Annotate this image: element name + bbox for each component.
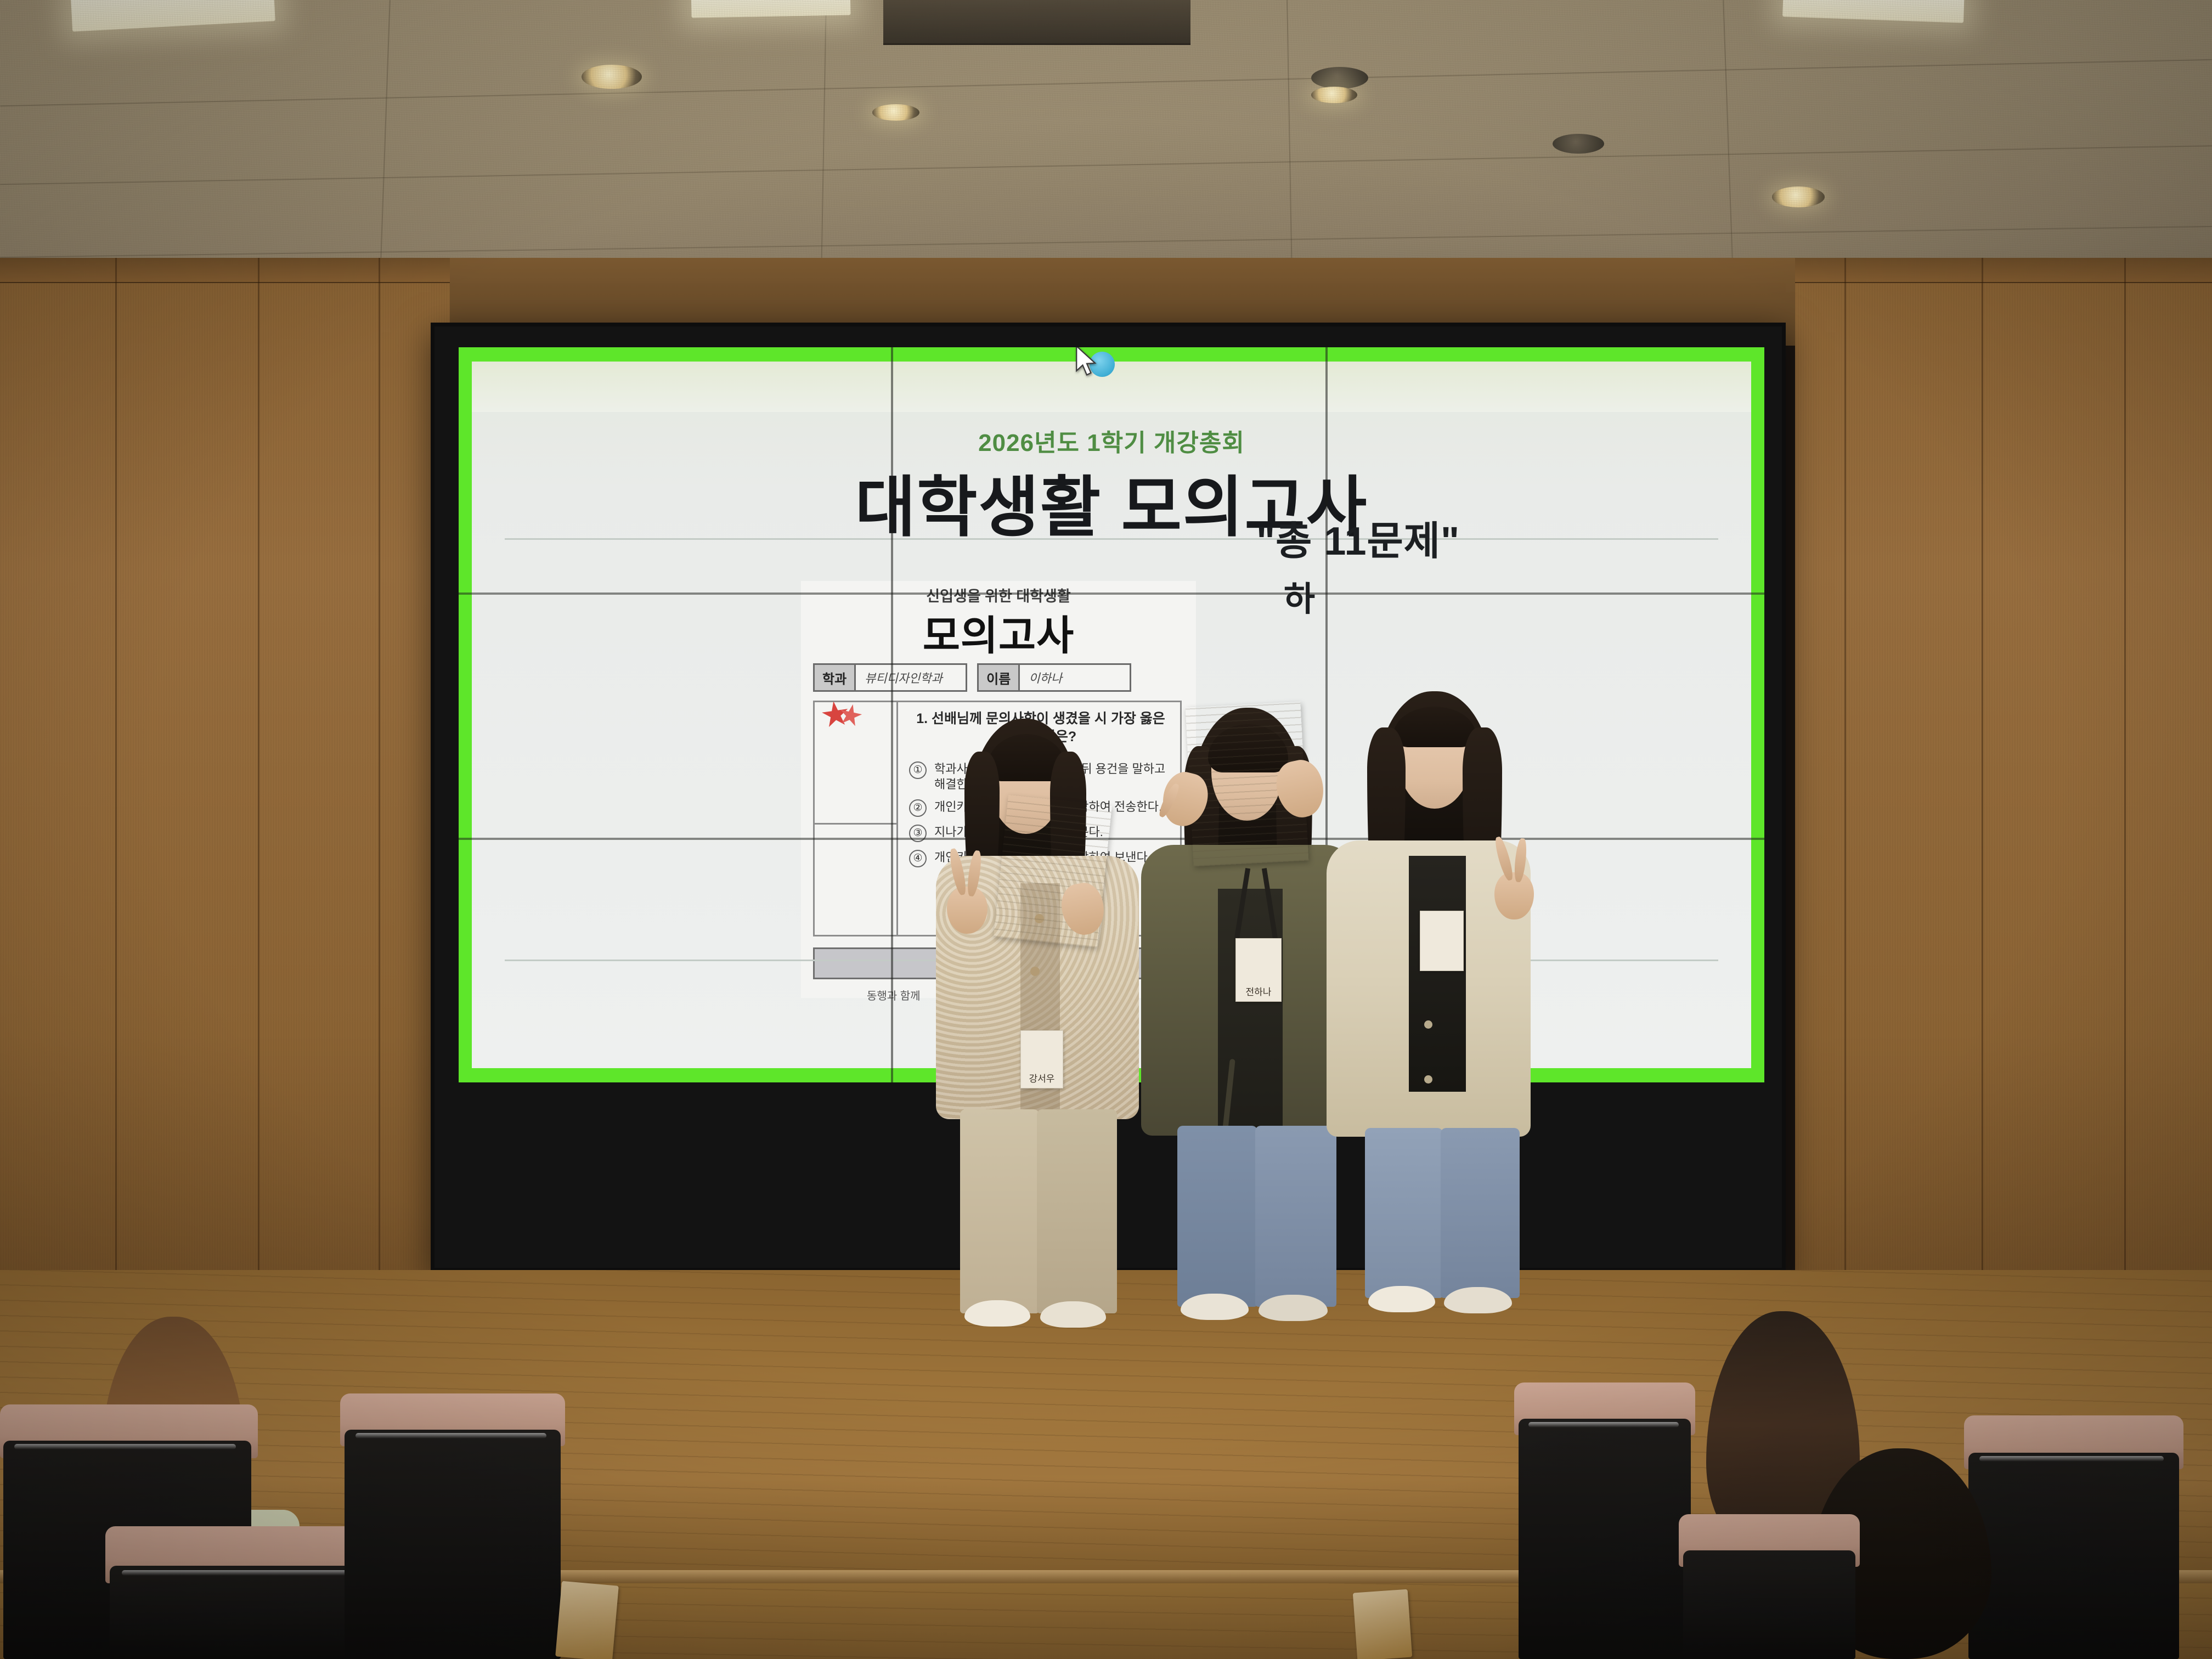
field-name-value: 이하나 [1020, 665, 1130, 690]
leg [1441, 1128, 1520, 1298]
wall-cornice [0, 258, 450, 283]
shoe [1040, 1301, 1106, 1328]
jacket-button [1030, 967, 1040, 976]
audience-seat [340, 1393, 565, 1659]
name-tag [1420, 911, 1464, 971]
question-count-label: "총 11문제" [1256, 509, 1460, 566]
ceiling-downlight [872, 104, 919, 121]
option-number: ② [909, 799, 927, 817]
video-wall-seam [459, 592, 1764, 595]
ceiling-downlight [1553, 134, 1604, 154]
audience-seat [1514, 1383, 1695, 1659]
shoe [1368, 1286, 1435, 1312]
ceiling-soffit-box [883, 0, 1190, 45]
hand-v-sign [1494, 872, 1534, 919]
document-title: 모의고사 [801, 603, 1196, 662]
wall-left [0, 258, 450, 1366]
mouse-cursor-icon [1074, 347, 1099, 378]
seat-back [110, 1566, 374, 1659]
field-department-value: 뷰티디자인학과 [856, 665, 966, 690]
field-department-label: 학과 [815, 665, 856, 690]
seat-highlight [1528, 1422, 1679, 1427]
ceiling-panel-light [691, 0, 851, 18]
slide-title: 대학생활 모의고사 [472, 454, 1751, 549]
option-number: ④ [909, 850, 927, 867]
field-department: 학과 뷰티디자인학과 [813, 663, 967, 692]
document-fields: 학과 뷰티디자인학과 이름 이하나 [813, 663, 1131, 692]
seat-highlight [14, 1444, 236, 1449]
shoe [1444, 1287, 1512, 1313]
leg [1177, 1126, 1257, 1307]
inner-shirt [1409, 856, 1466, 1092]
photo-scene: 2026년도 1학기 개강총회 대학생활 모의고사 신입생을 위한 대학생활 모… [0, 0, 2212, 1659]
hand-v-sign [947, 887, 988, 934]
document-note: 동행과 함께 [867, 987, 921, 1003]
shoe [1181, 1294, 1249, 1320]
field-name-label: 이름 [979, 665, 1020, 690]
ceiling-downlight [1311, 87, 1357, 103]
ceiling-downlight [1311, 67, 1368, 89]
jacket-button [1424, 1020, 1432, 1029]
seat-back [1519, 1419, 1691, 1659]
name-tag: 전하나 [1235, 938, 1282, 1002]
student-left: 강서우 [933, 719, 1141, 1333]
ceiling-panel-light [70, 0, 275, 32]
seat-back [345, 1430, 561, 1659]
audience-seat [1679, 1514, 1860, 1659]
student-right [1317, 691, 1536, 1339]
leg [1365, 1128, 1443, 1298]
question-number: 1. [916, 711, 928, 726]
ceiling-downlight [1772, 187, 1825, 207]
slide-kicker: 2026년도 1학기 개강총회 [472, 423, 1751, 458]
wall-right [1795, 258, 2212, 1366]
seat-back [1683, 1550, 1855, 1659]
slide-sub-label: 하 [1284, 571, 1315, 620]
star-mark-icon: ★ [835, 699, 866, 732]
ceiling-downlight [582, 65, 642, 89]
option-number: ① [909, 761, 927, 779]
seat-armrest [555, 1581, 619, 1659]
field-name: 이름 이하나 [977, 663, 1131, 692]
ceiling-panel-light [1782, 0, 1965, 23]
leg [1037, 1109, 1117, 1313]
wall-cornice [1795, 258, 2212, 283]
name-tag: 강서우 [1020, 1030, 1063, 1088]
slide-divider [505, 538, 1718, 540]
leg [960, 1109, 1039, 1313]
seat-armrest [1353, 1589, 1412, 1659]
video-wall-seam [891, 347, 893, 1082]
answer-grid-cell: ★ ★ [815, 702, 898, 935]
audience-seat [105, 1526, 380, 1659]
seat-highlight [122, 1570, 358, 1576]
shoe [964, 1300, 1030, 1327]
seat-highlight [356, 1433, 546, 1438]
jacket-button [1424, 1075, 1432, 1084]
